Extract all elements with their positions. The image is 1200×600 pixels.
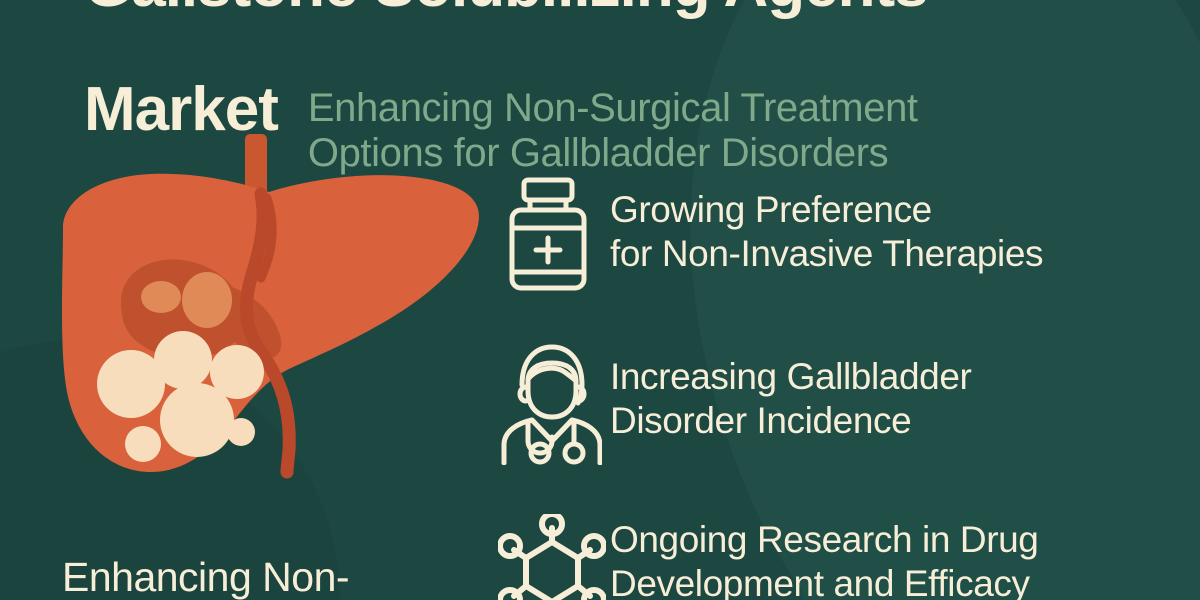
list-item-line1: Increasing Gallbladder (610, 355, 971, 399)
page-subtitle-line1: Enhancing Non-Surgical Treatment (308, 86, 918, 131)
list-item: Increasing Gallbladder Disorder Incidenc… (498, 341, 1200, 470)
gallstone-orange-small (141, 281, 181, 313)
list-item-text: Increasing Gallbladder Disorder Incidenc… (610, 341, 971, 442)
list-item-text: Ongoing Research in Drug Development and… (610, 514, 1038, 600)
footer-caption-line1: Enhancing Non- (62, 552, 512, 600)
gallstone-2 (154, 331, 212, 389)
key-drivers-list: Growing Preference for Non-Invasive Ther… (498, 176, 1200, 600)
list-item: Growing Preference for Non-Invasive Ther… (498, 176, 1200, 297)
footer-caption: Enhancing Non- Surgical Treatment (62, 552, 512, 600)
doctor-icon (498, 341, 610, 470)
gallstone-6 (227, 418, 255, 446)
gallstone-4 (160, 383, 234, 457)
list-item-line1: Ongoing Research in Drug (610, 518, 1038, 562)
gallstone-orange-large (182, 272, 232, 328)
list-item-line2: for Non-Invasive Therapies (610, 232, 1043, 276)
list-item-text: Growing Preference for Non-Invasive Ther… (610, 176, 1043, 275)
gallstone-5 (125, 426, 161, 462)
liver-with-gallstones-illustration (55, 132, 485, 492)
list-item: Ongoing Research in Drug Development and… (498, 514, 1200, 600)
list-item-line1: Growing Preference (610, 188, 1043, 232)
headline-block: Gallstone Solubilizing Agents (0, 0, 1160, 18)
list-item-line2: Disorder Incidence (610, 399, 971, 443)
title-wrap: Gallstone Solubilizing Agents (0, 0, 1160, 18)
page-title-line1: Gallstone Solubilizing Agents (84, 0, 1160, 18)
medicine-bottle-icon (498, 176, 610, 297)
molecule-icon (498, 514, 610, 600)
list-item-line2: Development and Efficacy (610, 562, 1038, 600)
